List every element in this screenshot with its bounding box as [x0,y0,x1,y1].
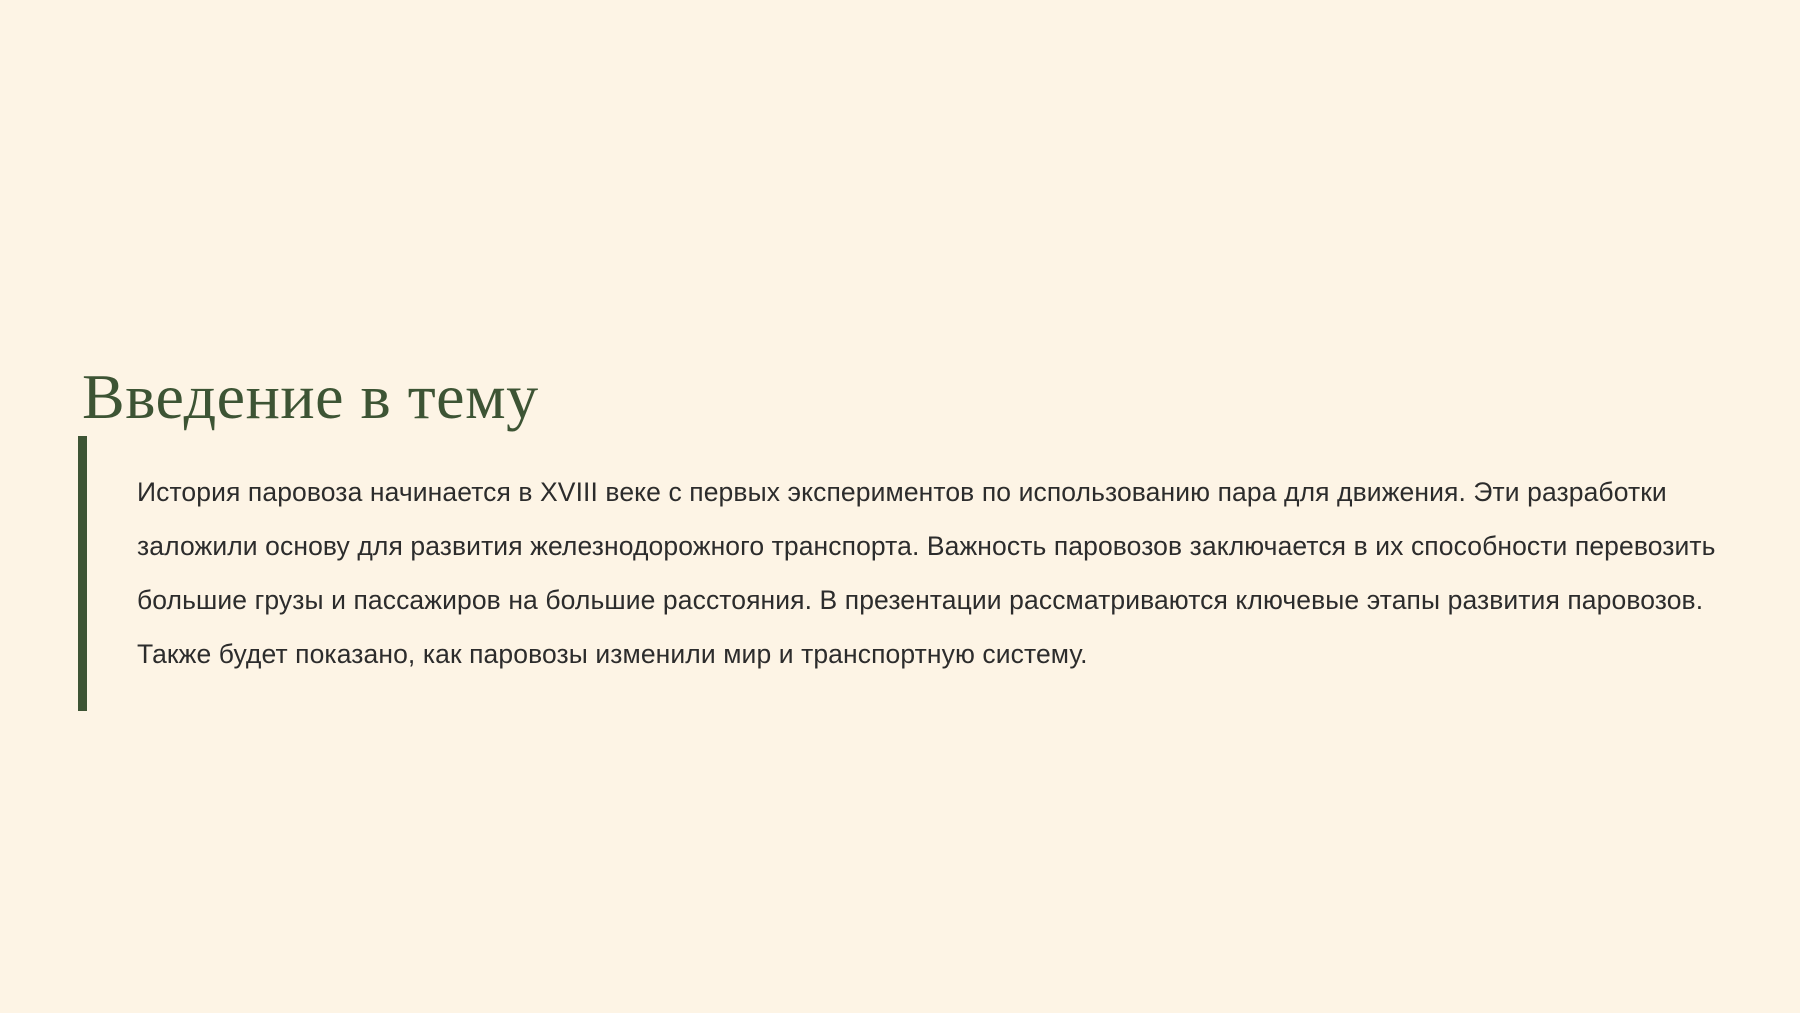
presentation-slide: Введение в тему История паровоза начинае… [0,0,1800,1013]
body-quote-block: История паровоза начинается в XVIII веке… [78,436,1728,711]
body-paragraph: История паровоза начинается в XVIII веке… [137,463,1727,685]
page-title: Введение в тему [82,361,539,433]
left-accent-bar [78,436,87,711]
